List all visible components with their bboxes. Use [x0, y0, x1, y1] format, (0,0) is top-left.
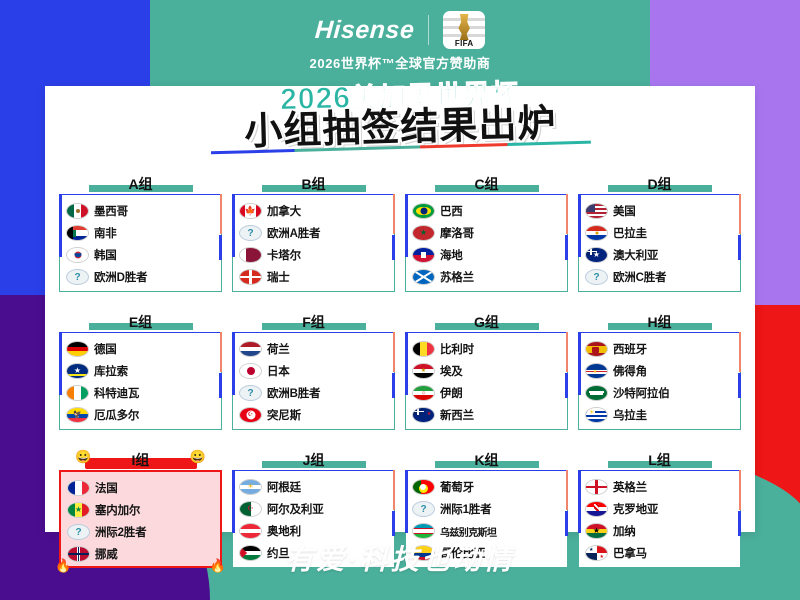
footer-slogan: 有爱·科技也动情: [0, 538, 800, 578]
team-name: 日本: [267, 363, 290, 379]
flag-icon-senegal: ★: [67, 502, 90, 518]
smile-emoji-icon: 😀: [190, 450, 206, 463]
team-row: 英格兰: [585, 476, 736, 498]
team-row: ★塞内加尔: [67, 499, 216, 521]
card-edge-right: [392, 511, 395, 536]
team-name: 新西兰: [440, 407, 474, 423]
team-name: 荷兰: [267, 341, 290, 357]
hisense-logo: Hisense: [314, 16, 415, 45]
team-row: ★埃及: [412, 360, 563, 382]
group-label-text: B组: [301, 176, 325, 192]
team-name: 卡塔尔: [267, 247, 301, 263]
card-edge-top: [60, 194, 221, 195]
team-row: ★佛得角: [585, 360, 736, 382]
group-label-text: H组: [647, 314, 671, 330]
team-row: ★澳大利亚: [585, 244, 736, 266]
group-label-text: C组: [474, 176, 498, 192]
flag-icon-england: [585, 479, 608, 495]
poster-canvas: Hisense FIFA 2026世界杯™全球官方赞助商 2026美加墨世界杯 …: [0, 0, 800, 600]
group-team-list: 墨西哥南非韩国?欧洲D胜者: [59, 194, 222, 292]
team-name: 欧洲B胜者: [267, 385, 320, 401]
card-edge-top: [233, 470, 394, 471]
card-edge-top: [406, 470, 567, 471]
team-name: 比利时: [440, 341, 474, 357]
question-mark-glyph: ?: [593, 272, 599, 283]
team-name: 厄瓜多尔: [94, 407, 139, 423]
flag-icon-france: [67, 480, 90, 496]
team-row: ☪阿尔及利亚: [239, 498, 390, 520]
team-row: 卡塔尔: [239, 244, 390, 266]
group-label-wrap: K组: [405, 452, 568, 470]
card-edge-top: [233, 332, 394, 333]
flag-icon-portugal: [412, 479, 435, 495]
group-card-A组: A组墨西哥南非韩国?欧洲D胜者: [59, 158, 222, 292]
unknown-team-icon: ?: [239, 225, 262, 241]
card-edge-right: [392, 373, 395, 398]
group-grid: A组墨西哥南非韩国?欧洲D胜者B组🍁加拿大?欧洲A胜者卡塔尔瑞士C组巴西★摩洛哥…: [59, 158, 741, 568]
brand-divider: [428, 15, 429, 45]
team-name: 欧洲C胜者: [613, 269, 666, 285]
flag-icon-ecuador: 🦅: [66, 407, 89, 423]
team-row: ☀乌拉圭: [585, 404, 736, 426]
team-row: 法国: [67, 477, 216, 499]
fifa-world-cup-badge: FIFA: [443, 11, 485, 49]
flag-icon-haiti: [412, 247, 435, 263]
question-mark-glyph: ?: [74, 272, 80, 283]
unknown-team-icon: ?: [239, 385, 262, 401]
flag-icon-japan: [239, 363, 262, 379]
team-row: ☪突尼斯: [239, 404, 390, 426]
group-label-text: I组: [132, 452, 150, 468]
team-name: 海地: [440, 247, 463, 263]
team-name: 克罗地亚: [613, 501, 658, 517]
flag-icon-brazil: [412, 203, 435, 219]
team-row: ?欧洲C胜者: [585, 266, 736, 288]
unknown-team-icon: ?: [412, 501, 435, 517]
group-label-text: A组: [128, 176, 152, 192]
flag-icon-new-zealand: ★: [412, 407, 435, 423]
card-edge-right: [565, 235, 568, 260]
team-name: 佛得角: [613, 363, 647, 379]
team-row: 德国: [66, 338, 217, 360]
team-row: 南非: [66, 222, 217, 244]
team-row: 韩国: [66, 244, 217, 266]
team-name: 德国: [94, 341, 117, 357]
team-name: 欧洲D胜者: [94, 269, 147, 285]
team-row: ★新西兰: [412, 404, 563, 426]
card-edge-top: [579, 332, 740, 333]
group-label-wrap: E组: [59, 314, 222, 332]
team-name: 塞内加尔: [95, 502, 140, 518]
card-edge-top: [579, 470, 740, 471]
unknown-team-icon: ?: [585, 269, 608, 285]
flag-icon-ivory-coast: [66, 385, 89, 401]
group-label-wrap: J组: [232, 452, 395, 470]
group-label-text: K组: [474, 452, 498, 468]
team-name: 法国: [95, 480, 118, 496]
team-row: 比利时: [412, 338, 563, 360]
team-name: 英格兰: [613, 479, 647, 495]
card-edge-top: [406, 194, 567, 195]
card-edge-right: [565, 511, 568, 536]
team-row: 葡萄牙: [412, 476, 563, 498]
card-edge-right: [565, 373, 568, 398]
brand-header: Hisense FIFA 2026世界杯™全球官方赞助商: [0, 10, 800, 72]
team-row: ۞伊朗: [412, 382, 563, 404]
flag-icon-mexico: [66, 203, 89, 219]
team-row: 🦅厄瓜多尔: [66, 404, 217, 426]
team-name: 伊朗: [440, 385, 463, 401]
smile-emoji-icon: 😀: [75, 450, 91, 463]
group-label-wrap: A组: [59, 176, 222, 194]
group-label-wrap: D组: [578, 176, 741, 194]
group-label-wrap: B组: [232, 176, 395, 194]
team-name: 墨西哥: [94, 203, 128, 219]
flag-icon-tunisia: ☪: [239, 407, 262, 423]
team-row: ★库拉索: [66, 360, 217, 382]
team-name: 摩洛哥: [440, 225, 474, 241]
flag-icon-australia: ★: [585, 247, 608, 263]
flag-icon-argentina: ☀: [239, 479, 262, 495]
fifa-label: FIFA: [455, 39, 474, 49]
team-row: ?欧洲A胜者: [239, 222, 390, 244]
team-name: 加拿大: [267, 203, 301, 219]
team-row: 墨西哥: [66, 200, 217, 222]
team-row: ?欧洲B胜者: [239, 382, 390, 404]
flag-icon-uruguay: ☀: [585, 407, 608, 423]
group-label-wrap: I组😀😀: [59, 452, 222, 470]
team-row: 苏格兰: [412, 266, 563, 288]
group-card-G组: G组比利时★埃及۞伊朗★新西兰: [405, 296, 568, 430]
group-team-list: 美国巴拉圭★澳大利亚?欧洲C胜者: [578, 194, 741, 292]
team-name: 苏格兰: [440, 269, 474, 285]
team-name: 沙特阿拉伯: [613, 385, 670, 401]
flag-icon-qatar: [239, 247, 262, 263]
card-edge-top: [60, 332, 221, 333]
flag-icon-netherlands: [239, 341, 262, 357]
flag-icon-usa: [585, 203, 608, 219]
flag-icon-spain: [585, 341, 608, 357]
flag-icon-morocco: ★: [412, 225, 435, 241]
flag-icon-austria: [239, 523, 262, 539]
team-row: 科特迪瓦: [66, 382, 217, 404]
team-row: 日本: [239, 360, 390, 382]
team-name: 奥地利: [267, 523, 301, 539]
team-name: 埃及: [440, 363, 463, 379]
group-label-text: E组: [129, 314, 152, 330]
team-row: 西班牙: [585, 338, 736, 360]
team-row: 荷兰: [239, 338, 390, 360]
team-name: 加纳: [613, 523, 636, 539]
flag-icon-algeria: ☪: [239, 501, 262, 517]
team-name: 科特迪瓦: [94, 385, 139, 401]
card-edge-top: [233, 194, 394, 195]
team-row: ?欧洲D胜者: [66, 266, 217, 288]
flag-icon-saudi-arabia: [585, 385, 608, 401]
group-label-wrap: C组: [405, 176, 568, 194]
team-name: 韩国: [94, 247, 117, 263]
team-row: 巴拉圭: [585, 222, 736, 244]
team-name: 巴西: [440, 203, 463, 219]
group-label-text: G组: [474, 314, 499, 330]
group-label-text: D组: [647, 176, 671, 192]
team-name: 西班牙: [613, 341, 647, 357]
question-mark-glyph: ?: [247, 388, 253, 399]
group-label-wrap: G组: [405, 314, 568, 332]
flag-icon-belgium: [412, 341, 435, 357]
team-name: 库拉索: [94, 363, 128, 379]
group-label-wrap: L组: [578, 452, 741, 470]
group-label-wrap: F组: [232, 314, 395, 332]
team-name: 阿根廷: [267, 479, 301, 495]
card-edge-right: [219, 373, 222, 398]
flag-icon-germany: [66, 341, 89, 357]
group-team-list: 比利时★埃及۞伊朗★新西兰: [405, 332, 568, 430]
group-label-text: L组: [648, 452, 671, 468]
team-row: 海地: [412, 244, 563, 266]
team-name: 南非: [94, 225, 117, 241]
group-team-list: 巴西★摩洛哥海地苏格兰: [405, 194, 568, 292]
group-card-E组: E组德国★库拉索科特迪瓦🦅厄瓜多尔: [59, 296, 222, 430]
question-mark-glyph: ?: [75, 527, 81, 538]
group-card-B组: B组🍁加拿大?欧洲A胜者卡塔尔瑞士: [232, 158, 395, 292]
flag-icon-egypt: ★: [412, 363, 435, 379]
card-edge-right: [392, 235, 395, 260]
group-label-text: F组: [302, 314, 325, 330]
team-row: 美国: [585, 200, 736, 222]
group-card-F组: F组荷兰日本?欧洲B胜者☪突尼斯: [232, 296, 395, 430]
team-row: 克罗地亚: [585, 498, 736, 520]
team-name: 阿尔及利亚: [267, 501, 324, 517]
question-mark-glyph: ?: [247, 228, 253, 239]
unknown-team-icon: ?: [66, 269, 89, 285]
team-name: 欧洲A胜者: [267, 225, 320, 241]
team-name: 乌拉圭: [613, 407, 647, 423]
flag-icon-curacao: ★: [66, 363, 89, 379]
brand-row: Hisense FIFA: [0, 10, 800, 50]
flag-icon-iran: ۞: [412, 385, 435, 401]
team-row: ☀阿根廷: [239, 476, 390, 498]
group-team-list: 德国★库拉索科特迪瓦🦅厄瓜多尔: [59, 332, 222, 430]
team-name: 巴拉圭: [613, 225, 647, 241]
poster-card: 2026美加墨世界杯 小组抽签结果出炉 A组墨西哥南非韩国?欧洲D胜者B组🍁加拿…: [45, 86, 755, 532]
group-card-C组: C组巴西★摩洛哥海地苏格兰: [405, 158, 568, 292]
group-label-text: J组: [303, 452, 325, 468]
team-name: 瑞士: [267, 269, 290, 285]
team-name: 乌兹别克斯坦: [440, 524, 496, 539]
flag-icon-south-africa: [66, 225, 89, 241]
flag-icon-south-korea: [66, 247, 89, 263]
team-row: ?洲际1胜者: [412, 498, 563, 520]
flag-icon-canada: 🍁: [239, 203, 262, 219]
group-team-list: 🍁加拿大?欧洲A胜者卡塔尔瑞士: [232, 194, 395, 292]
flag-icon-paraguay: [585, 225, 608, 241]
team-row: ★摩洛哥: [412, 222, 563, 244]
question-mark-glyph: ?: [420, 504, 426, 515]
group-team-list: 荷兰日本?欧洲B胜者☪突尼斯: [232, 332, 395, 430]
card-edge-right: [738, 235, 741, 260]
team-name: 葡萄牙: [440, 479, 474, 495]
flag-icon-cape-verde: ★: [585, 363, 608, 379]
team-row: 🍁加拿大: [239, 200, 390, 222]
group-team-list: 西班牙★佛得角沙特阿拉伯☀乌拉圭: [578, 332, 741, 430]
flag-icon-uzbekistan: [412, 523, 435, 539]
team-name: 洲际1胜者: [440, 501, 491, 517]
card-edge-top: [579, 194, 740, 195]
card-edge-right: [219, 235, 222, 260]
team-row: 瑞士: [239, 266, 390, 288]
group-card-H组: H组西班牙★佛得角沙特阿拉伯☀乌拉圭: [578, 296, 741, 430]
flag-icon-ghana: ★: [585, 523, 608, 539]
team-row: 沙特阿拉伯: [585, 382, 736, 404]
card-edge-right: [738, 373, 741, 398]
card-edge-top: [406, 332, 567, 333]
flag-icon-scotland: [412, 269, 435, 285]
group-card-D组: D组美国巴拉圭★澳大利亚?欧洲C胜者: [578, 158, 741, 292]
team-name: 澳大利亚: [613, 247, 658, 263]
flag-icon-switzerland: [239, 269, 262, 285]
card-edge-right: [738, 511, 741, 536]
team-name: 美国: [613, 203, 636, 219]
sponsor-line: 2026世界杯™全球官方赞助商: [0, 53, 800, 72]
flag-icon-croatia: [585, 501, 608, 517]
team-name: 突尼斯: [267, 407, 301, 423]
group-label-wrap: H组: [578, 314, 741, 332]
team-row: 巴西: [412, 200, 563, 222]
